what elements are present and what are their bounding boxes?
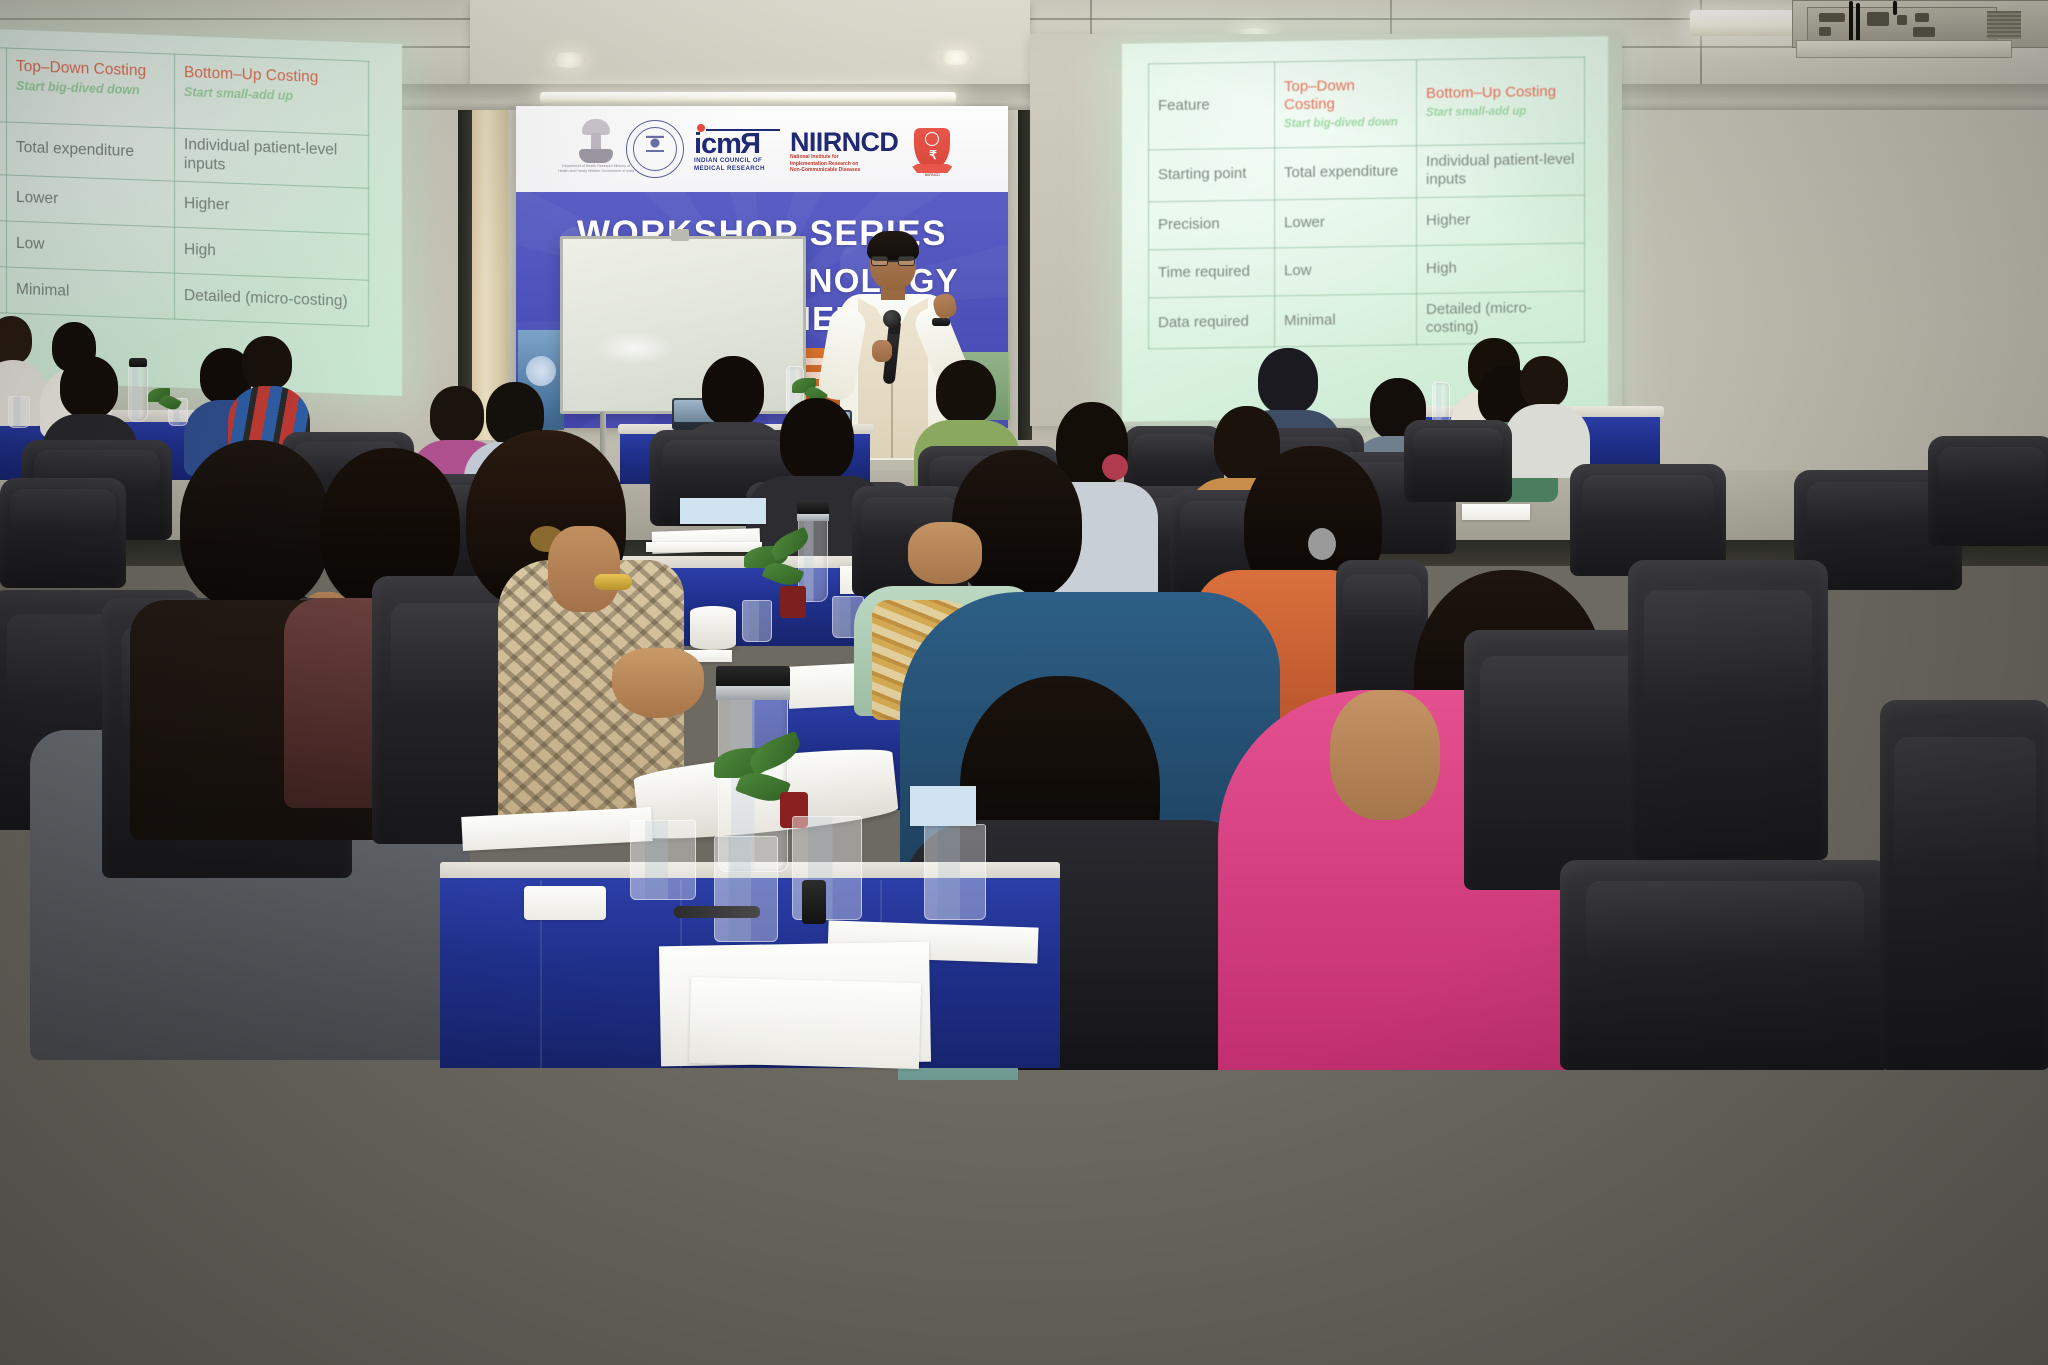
shield-caption: NIIRNCD bbox=[908, 173, 956, 177]
niirncd-wordmark: NIIRNCD bbox=[790, 130, 898, 154]
col-header-top-down-label: Top–Down Costing bbox=[16, 58, 146, 80]
presenter-glasses-icon bbox=[871, 256, 915, 266]
chair[interactable] bbox=[1880, 700, 2048, 1070]
drinking-glass[interactable] bbox=[8, 396, 30, 428]
col-subheader-top-down: Start big-dived down bbox=[16, 79, 165, 100]
cell-bottom-up: Higher bbox=[175, 181, 369, 234]
table-row: Data required Minimal Detailed (micro-co… bbox=[1149, 291, 1585, 349]
paper-roll[interactable] bbox=[690, 606, 736, 650]
cell-top-down: Minimal bbox=[1275, 293, 1417, 347]
bracelet bbox=[594, 574, 632, 590]
india-state-emblem-icon: Department of Health Research Ministry o… bbox=[576, 117, 616, 181]
icmr-seal-icon bbox=[626, 120, 684, 178]
col-header-bottom-up-label: Bottom–Up Costing bbox=[1426, 83, 1575, 104]
col-header-top-down: Top–Down Costing Start big-dived down bbox=[7, 48, 175, 128]
table-row: Precision Lower Higher bbox=[1149, 195, 1585, 250]
slide-comparison-table-left: Feature Top–Down Costing Start big-dived… bbox=[0, 42, 369, 327]
participant-hand bbox=[908, 522, 982, 584]
pen[interactable] bbox=[674, 906, 760, 918]
conference-room-scene: Feature Top–Down Costing Start big-dived… bbox=[0, 0, 2048, 1365]
chair[interactable] bbox=[1928, 436, 2048, 546]
paper-sheet[interactable] bbox=[689, 977, 921, 1069]
drinking-glass[interactable] bbox=[924, 824, 986, 920]
chair[interactable] bbox=[1560, 860, 1890, 1070]
bottle-cap bbox=[797, 502, 829, 514]
col-subheader-bottom-up: Start small-add up bbox=[184, 85, 359, 107]
col-subheader-bottom-up: Start small-add up bbox=[1426, 104, 1575, 120]
cell-bottom-up: Detailed (micro-costing) bbox=[175, 273, 369, 326]
banner-logo-strip: Department of Health Research Ministry o… bbox=[516, 106, 1008, 192]
paper-sheet[interactable] bbox=[1462, 504, 1530, 520]
col-header-bottom-up-label: Bottom–Up Costing bbox=[184, 64, 318, 86]
bottle-cap bbox=[129, 358, 147, 367]
cell-bottom-up: High bbox=[1417, 243, 1585, 294]
cell-top-down: Low bbox=[7, 221, 175, 273]
cell-bottom-up: Detailed (micro-costing) bbox=[1417, 291, 1585, 345]
emblem-caption: Department of Health Research Ministry o… bbox=[558, 164, 634, 175]
col-header-top-down: Top–Down Costing Start big-dived down bbox=[1275, 60, 1417, 148]
cell-top-down: Lower bbox=[1275, 197, 1417, 247]
bottle-cap bbox=[716, 666, 790, 688]
col-subheader-top-down: Start big-dived down bbox=[1284, 116, 1407, 132]
projector-mount-plate bbox=[1796, 40, 2012, 58]
participant-hand bbox=[612, 648, 704, 718]
drinking-glass[interactable] bbox=[742, 600, 772, 642]
cell-bottom-up: Individual patient-level inputs bbox=[175, 128, 369, 188]
icmr-subtitle-line2: MEDICAL RESEARCH bbox=[694, 165, 780, 173]
cell-feature: Data required bbox=[1149, 296, 1275, 350]
cell-bottom-up: Higher bbox=[1417, 195, 1585, 246]
drinking-glass[interactable] bbox=[714, 836, 778, 942]
presenter-mic-hand bbox=[872, 340, 892, 362]
bottle-ring bbox=[716, 686, 790, 700]
cell-feature: Time required bbox=[1149, 248, 1275, 298]
participant-hand bbox=[1330, 690, 1440, 820]
institute-shield-icon: ₹ NIIRNCD bbox=[908, 120, 956, 178]
participant-hand bbox=[548, 526, 620, 612]
cell-top-down: Total expenditure bbox=[7, 122, 175, 181]
paper-sheet[interactable] bbox=[646, 542, 762, 552]
cell-bottom-up: High bbox=[175, 227, 369, 280]
whiteboard bbox=[560, 236, 806, 414]
bottle-ring bbox=[797, 514, 829, 521]
paper-sheet[interactable] bbox=[524, 886, 606, 920]
table-row: Starting point Total expenditure Individ… bbox=[1149, 143, 1585, 201]
water-bottle[interactable] bbox=[128, 364, 148, 422]
chair[interactable] bbox=[0, 478, 126, 588]
niirncd-logo: NIIRNCD National Institute for Implement… bbox=[790, 124, 898, 174]
ceiling-downlight bbox=[940, 50, 972, 65]
col-header-bottom-up: Bottom–Up Costing Start small-add up bbox=[1417, 57, 1585, 146]
table-row: Time required Low High bbox=[1149, 243, 1585, 298]
folder[interactable] bbox=[910, 786, 976, 826]
niirncd-subtitle-line3: Non-Communicable Diseases bbox=[790, 167, 898, 174]
table-header-row: Feature Top–Down Costing Start big-dived… bbox=[1149, 57, 1585, 150]
col-header-top-down-label: Top–Down Costing bbox=[1284, 76, 1407, 115]
cell-bottom-up: Individual patient-level inputs bbox=[1417, 143, 1585, 197]
cell-feature: Starting point bbox=[1149, 148, 1275, 202]
cell-top-down: Low bbox=[1275, 245, 1417, 295]
ceiling-downlight bbox=[552, 52, 586, 68]
drinking-glass[interactable] bbox=[630, 820, 696, 900]
folder[interactable] bbox=[680, 498, 766, 524]
microphone-head-icon bbox=[883, 310, 901, 328]
slide-comparison-table-right: Feature Top–Down Costing Start big-dived… bbox=[1148, 57, 1585, 350]
col-header-feature: Feature bbox=[1149, 62, 1275, 150]
icmr-subtitle-line1: INDIAN COUNCIL OF bbox=[694, 157, 780, 165]
marker-pen[interactable] bbox=[802, 880, 826, 924]
cell-top-down: Lower bbox=[7, 175, 175, 227]
icmr-logo: icmR INDIAN COUNCIL OF MEDICAL RESEARCH bbox=[694, 125, 780, 173]
icmr-wordmark: icmR bbox=[694, 132, 780, 157]
chair[interactable] bbox=[1628, 560, 1828, 860]
cell-top-down: Minimal bbox=[7, 267, 175, 319]
cell-top-down: Total expenditure bbox=[1275, 146, 1417, 200]
table-header-row: Feature Top–Down Costing Start big-dived… bbox=[0, 42, 369, 135]
cell-feature: Precision bbox=[1149, 200, 1275, 250]
col-header-bottom-up: Bottom–Up Costing Start small-add up bbox=[175, 54, 369, 135]
ceiling-tube-light bbox=[540, 92, 956, 103]
chair[interactable] bbox=[1404, 420, 1512, 502]
